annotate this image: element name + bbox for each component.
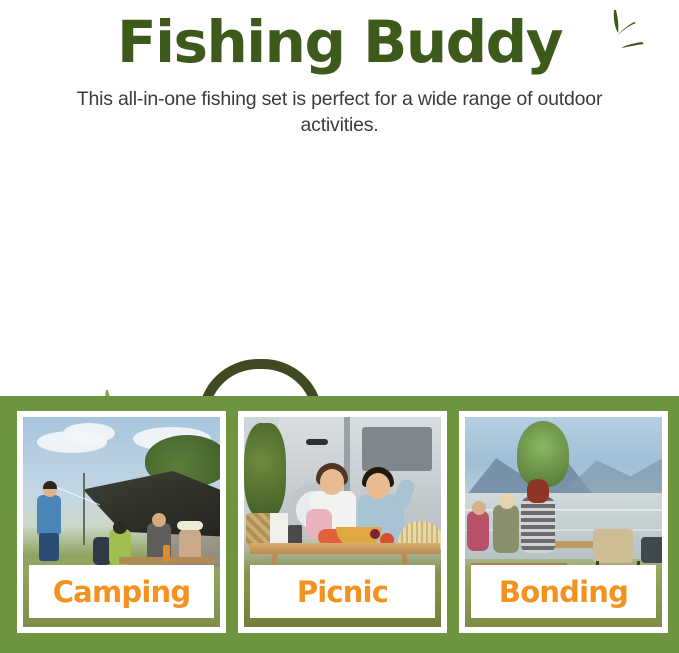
use-case-card-list: Camping <box>17 411 662 633</box>
cloud <box>63 423 115 443</box>
camp-chair <box>641 537 662 563</box>
person-seated <box>493 505 519 553</box>
product-hero-image: DaddyGofish DaddyGofish <box>0 150 679 396</box>
use-cases-section: Camping <box>0 396 679 653</box>
use-case-card-bonding[interactable]: Bonding <box>459 411 668 633</box>
person-head <box>152 513 166 527</box>
bush <box>244 423 286 519</box>
camping-photo: Camping <box>23 417 220 627</box>
card-label-box: Camping <box>29 565 214 618</box>
page-subtitle: This all-in-one fishing set is perfect f… <box>60 86 619 138</box>
person-seated <box>467 511 489 551</box>
card-label: Camping <box>53 575 191 609</box>
card-label: Bonding <box>499 575 628 609</box>
folding-table <box>250 543 440 554</box>
page-title: Fishing Buddy <box>0 8 679 76</box>
mountain-range <box>561 449 662 493</box>
van-window <box>362 427 432 471</box>
fruit <box>370 529 380 539</box>
person-seated <box>521 497 555 553</box>
picnic-photo: Picnic <box>244 417 441 627</box>
sun-hat <box>177 521 203 530</box>
card-label-box: Picnic <box>250 565 435 618</box>
cup <box>288 525 302 545</box>
tree <box>517 421 569 487</box>
person-hair <box>43 481 57 489</box>
boy-head <box>366 473 390 499</box>
person-head <box>113 521 127 534</box>
product-infographic: Fishing Buddy This all-in-one fishing se… <box>0 0 679 653</box>
woman-head <box>320 469 344 495</box>
header-section: Fishing Buddy This all-in-one fishing se… <box>0 0 679 150</box>
bonding-photo: Bonding <box>465 417 662 627</box>
person-legs <box>39 533 59 561</box>
person-head <box>472 501 486 515</box>
tarp-pole <box>83 473 85 545</box>
use-case-card-picnic[interactable]: Picnic <box>238 411 447 633</box>
van-handle <box>306 439 328 445</box>
drink-bottle <box>163 545 170 561</box>
card-label-box: Bonding <box>471 565 656 618</box>
person-head <box>527 479 549 503</box>
towel <box>270 513 288 547</box>
use-case-card-camping[interactable]: Camping <box>17 411 226 633</box>
person-fishing <box>37 495 61 535</box>
sparkle-icon <box>596 6 666 66</box>
person-head <box>499 493 515 509</box>
card-label: Picnic <box>297 575 388 609</box>
camp-chair <box>593 529 633 563</box>
